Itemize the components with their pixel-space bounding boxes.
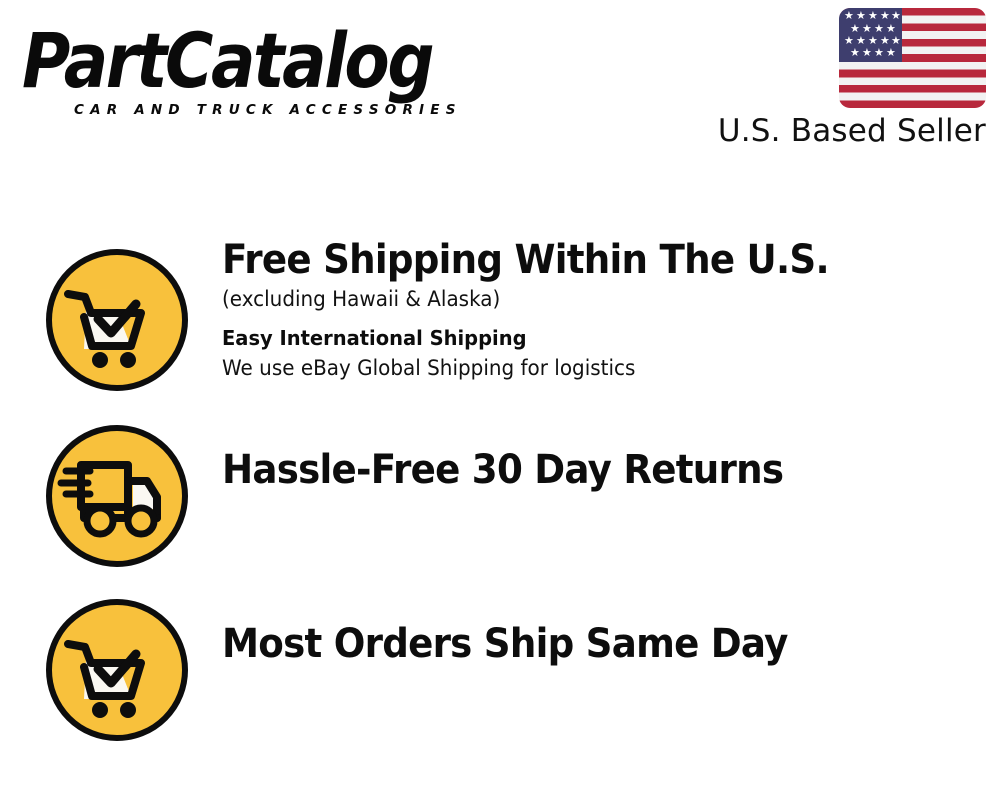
flag-star: ★ <box>886 24 896 35</box>
flag-star: ★ <box>844 11 854 22</box>
feature-subheading: Easy International Shipping <box>222 323 944 353</box>
seller-label: U.S. Based Seller <box>696 112 986 150</box>
flag-star: ★ <box>891 11 901 22</box>
flag-star: ★ <box>844 36 854 47</box>
feature-heading: Most Orders Ship Same Day <box>222 620 929 668</box>
feature-text: Free Shipping Within The U.S. (excluding… <box>222 236 982 383</box>
feature-heading: Free Shipping Within The U.S. <box>222 236 929 284</box>
flag-star: ★ <box>862 24 872 35</box>
flag-star: ★ <box>874 48 884 59</box>
feature-heading: Hassle-Free 30 Day Returns <box>222 446 929 494</box>
feature-text: Hassle-Free 30 Day Returns <box>222 446 982 494</box>
promo-banner: PartCatalog CAR AND TRUCK ACCESSORIES ★ … <box>0 0 1000 800</box>
flag-star: ★ <box>886 48 896 59</box>
flag-star: ★ <box>891 36 901 47</box>
feature-subdetail: We use eBay Global Shipping for logistic… <box>222 353 944 383</box>
feature-subtext: (excluding Hawaii & Alaska) <box>222 284 944 314</box>
flag-star: ★ <box>850 48 860 59</box>
brand-logo: PartCatalog CAR AND TRUCK ACCESSORIES <box>22 22 492 117</box>
flag-star: ★ <box>868 11 878 22</box>
feature-text: Most Orders Ship Same Day <box>222 620 982 668</box>
flag-star: ★ <box>862 48 872 59</box>
cart-check-icon <box>44 597 190 743</box>
cart-check-icon <box>44 247 190 393</box>
flag-canton: ★ ★ ★ ★ ★ ★ ★ ★ ★ ★ ★ ★ ★ ★ ★ ★ ★ ★ <box>839 8 902 62</box>
us-flag-icon: ★ ★ ★ ★ ★ ★ ★ ★ ★ ★ ★ ★ ★ ★ ★ ★ ★ ★ <box>839 8 986 108</box>
delivery-truck-icon <box>44 423 190 569</box>
flag-star: ★ <box>850 24 860 35</box>
flag-star: ★ <box>856 11 866 22</box>
flag-star: ★ <box>874 24 884 35</box>
brand-wordmark: PartCatalog <box>22 22 478 103</box>
flag-star: ★ <box>868 36 878 47</box>
flag-star: ★ <box>880 36 890 47</box>
flag-star: ★ <box>856 36 866 47</box>
flag-star: ★ <box>880 11 890 22</box>
us-based-seller-badge: ★ ★ ★ ★ ★ ★ ★ ★ ★ ★ ★ ★ ★ ★ ★ ★ ★ ★ U.S.… <box>696 8 986 150</box>
brand-tagline: CAR AND TRUCK ACCESSORIES <box>74 102 462 118</box>
